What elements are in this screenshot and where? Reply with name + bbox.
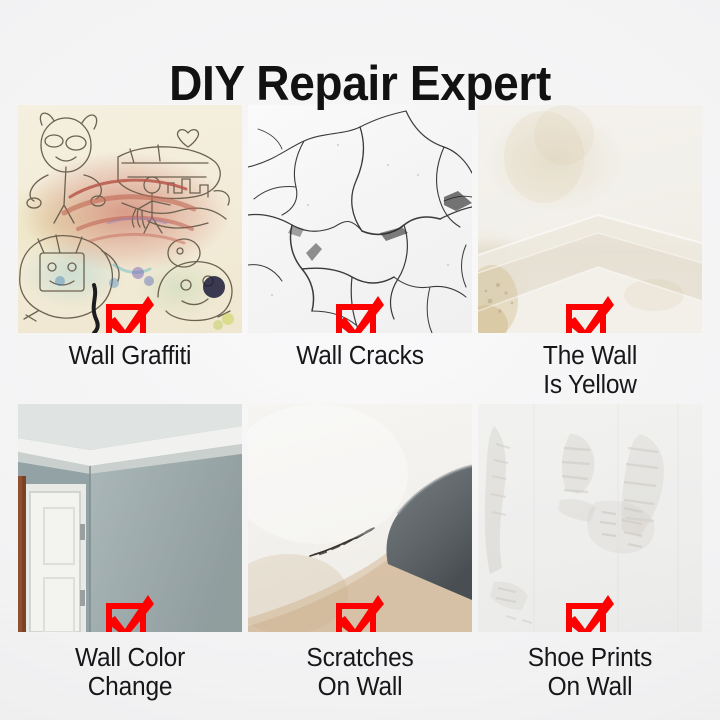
photo-wall-graffiti[interactable]: [18, 105, 242, 333]
photo-wall-is-yellow[interactable]: [478, 105, 702, 333]
grid-item-wall-is-yellow[interactable]: The Wall Is Yellow: [478, 105, 702, 400]
photo-shoe-prints-on-wall[interactable]: [478, 404, 702, 632]
photo-wall-cracks[interactable]: [248, 105, 472, 333]
grid-item-wall-cracks[interactable]: Wall Cracks: [248, 105, 472, 400]
photo-scratches-on-wall[interactable]: [248, 404, 472, 632]
grid-item-wall-color-change[interactable]: Wall Color Change: [18, 404, 242, 702]
caption-wall-graffiti: Wall Graffiti: [22, 342, 237, 371]
caption-wall-is-yellow: The Wall Is Yellow: [482, 342, 697, 400]
caption-wall-color-change: Wall Color Change: [22, 644, 237, 702]
red-checkmark-badge: [104, 294, 156, 333]
problem-grid: Wall Graffiti: [18, 105, 702, 702]
caption-scratches-on-wall: Scratches On Wall: [252, 644, 467, 702]
grid-item-wall-graffiti[interactable]: Wall Graffiti: [18, 105, 242, 400]
grid-item-scratches-on-wall[interactable]: Scratches On Wall: [248, 404, 472, 702]
page-title: DIY Repair Expert: [22, 55, 699, 113]
red-checkmark-badge: [564, 294, 616, 333]
red-checkmark-badge: [334, 294, 386, 333]
caption-shoe-prints-on-wall: Shoe Prints On Wall: [482, 644, 697, 702]
caption-wall-cracks: Wall Cracks: [252, 342, 467, 371]
grid-item-shoe-prints-on-wall[interactable]: Shoe Prints On Wall: [478, 404, 702, 702]
red-checkmark-badge: [104, 593, 156, 632]
red-checkmark-badge: [564, 593, 616, 632]
photo-wall-color-change[interactable]: [18, 404, 242, 632]
red-checkmark-badge: [334, 593, 386, 632]
